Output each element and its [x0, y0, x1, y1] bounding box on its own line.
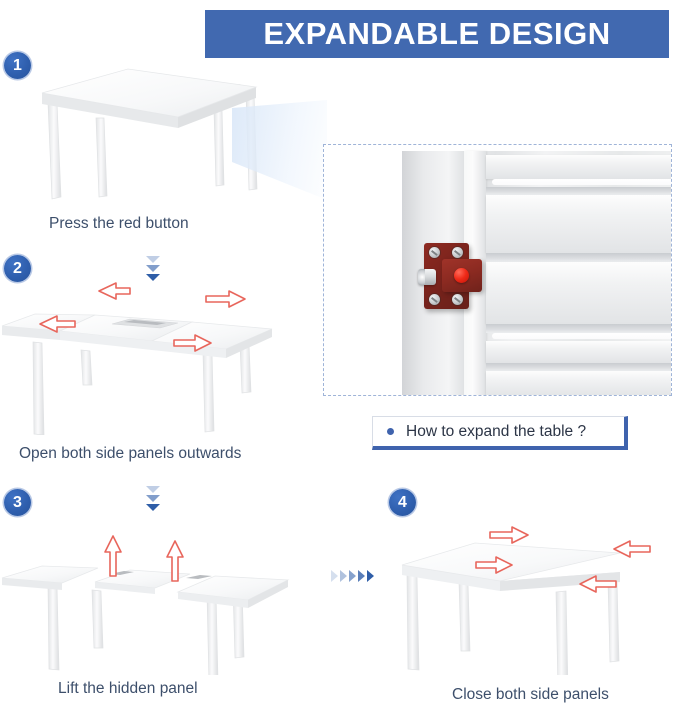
chevron-right-icon: [349, 570, 356, 582]
screw-icon: [452, 247, 463, 258]
table-slat-gap: [486, 253, 672, 262]
bullet-dot-icon: [387, 428, 394, 435]
arrow-group-step-4: [380, 490, 679, 630]
arrow-right-icon: [206, 291, 245, 307]
table-slat: [486, 262, 672, 324]
arrow-right-icon: [174, 335, 211, 351]
chevron-down-icon: [146, 486, 160, 493]
chevron-row-step3-to-step4: [331, 570, 376, 582]
closeup-photo: [402, 151, 671, 395]
arrow-right-icon: [476, 557, 512, 573]
infographic-canvas: EXPANDABLE DESIGN 1 Press the red b: [0, 0, 679, 707]
arrow-group-step-3: [0, 500, 320, 620]
locking-pin: [418, 269, 436, 285]
table-slat: [486, 195, 672, 253]
release-bracket: [424, 243, 480, 309]
arrow-left-icon: [580, 576, 616, 592]
page-title: EXPANDABLE DESIGN: [263, 16, 610, 52]
step-caption-2: Open both side panels outwards: [19, 445, 241, 463]
chevron-right-icon: [367, 570, 374, 582]
table-slat: [486, 341, 672, 363]
red-button-closeup-inset: [323, 144, 672, 396]
step-caption-4: Close both side panels: [452, 686, 609, 704]
table-slat: [486, 155, 672, 179]
arrow-left-icon: [99, 283, 130, 299]
table-slat-highlight: [492, 333, 672, 339]
screw-icon: [452, 294, 463, 305]
screw-icon: [429, 247, 440, 258]
arrow-group-step-2: [0, 255, 300, 435]
title-banner: EXPANDABLE DESIGN: [203, 8, 671, 60]
arrow-right-icon: [490, 527, 528, 543]
arrow-left-icon: [614, 541, 650, 557]
callout-box: How to expand the table ?: [372, 416, 628, 450]
step-caption-3: Lift the hidden panel: [58, 680, 198, 698]
chevron-right-icon: [331, 570, 338, 582]
table-slat-gap: [486, 187, 672, 195]
arrow-up-icon: [105, 536, 121, 576]
callout-text: How to expand the table ?: [406, 423, 586, 441]
table-slat-highlight: [492, 179, 672, 185]
table-slat: [486, 371, 672, 396]
red-release-button: [454, 268, 469, 283]
table-slat-gap: [486, 324, 672, 333]
screw-icon: [429, 294, 440, 305]
arrow-left-icon: [40, 316, 75, 332]
chevron-right-icon: [340, 570, 347, 582]
chevron-right-icon: [358, 570, 365, 582]
arrow-up-icon: [167, 541, 183, 581]
table-illustration-step-1: [18, 60, 263, 210]
table-slat-gap: [486, 363, 672, 371]
step-caption-1: Press the red button: [49, 215, 189, 233]
